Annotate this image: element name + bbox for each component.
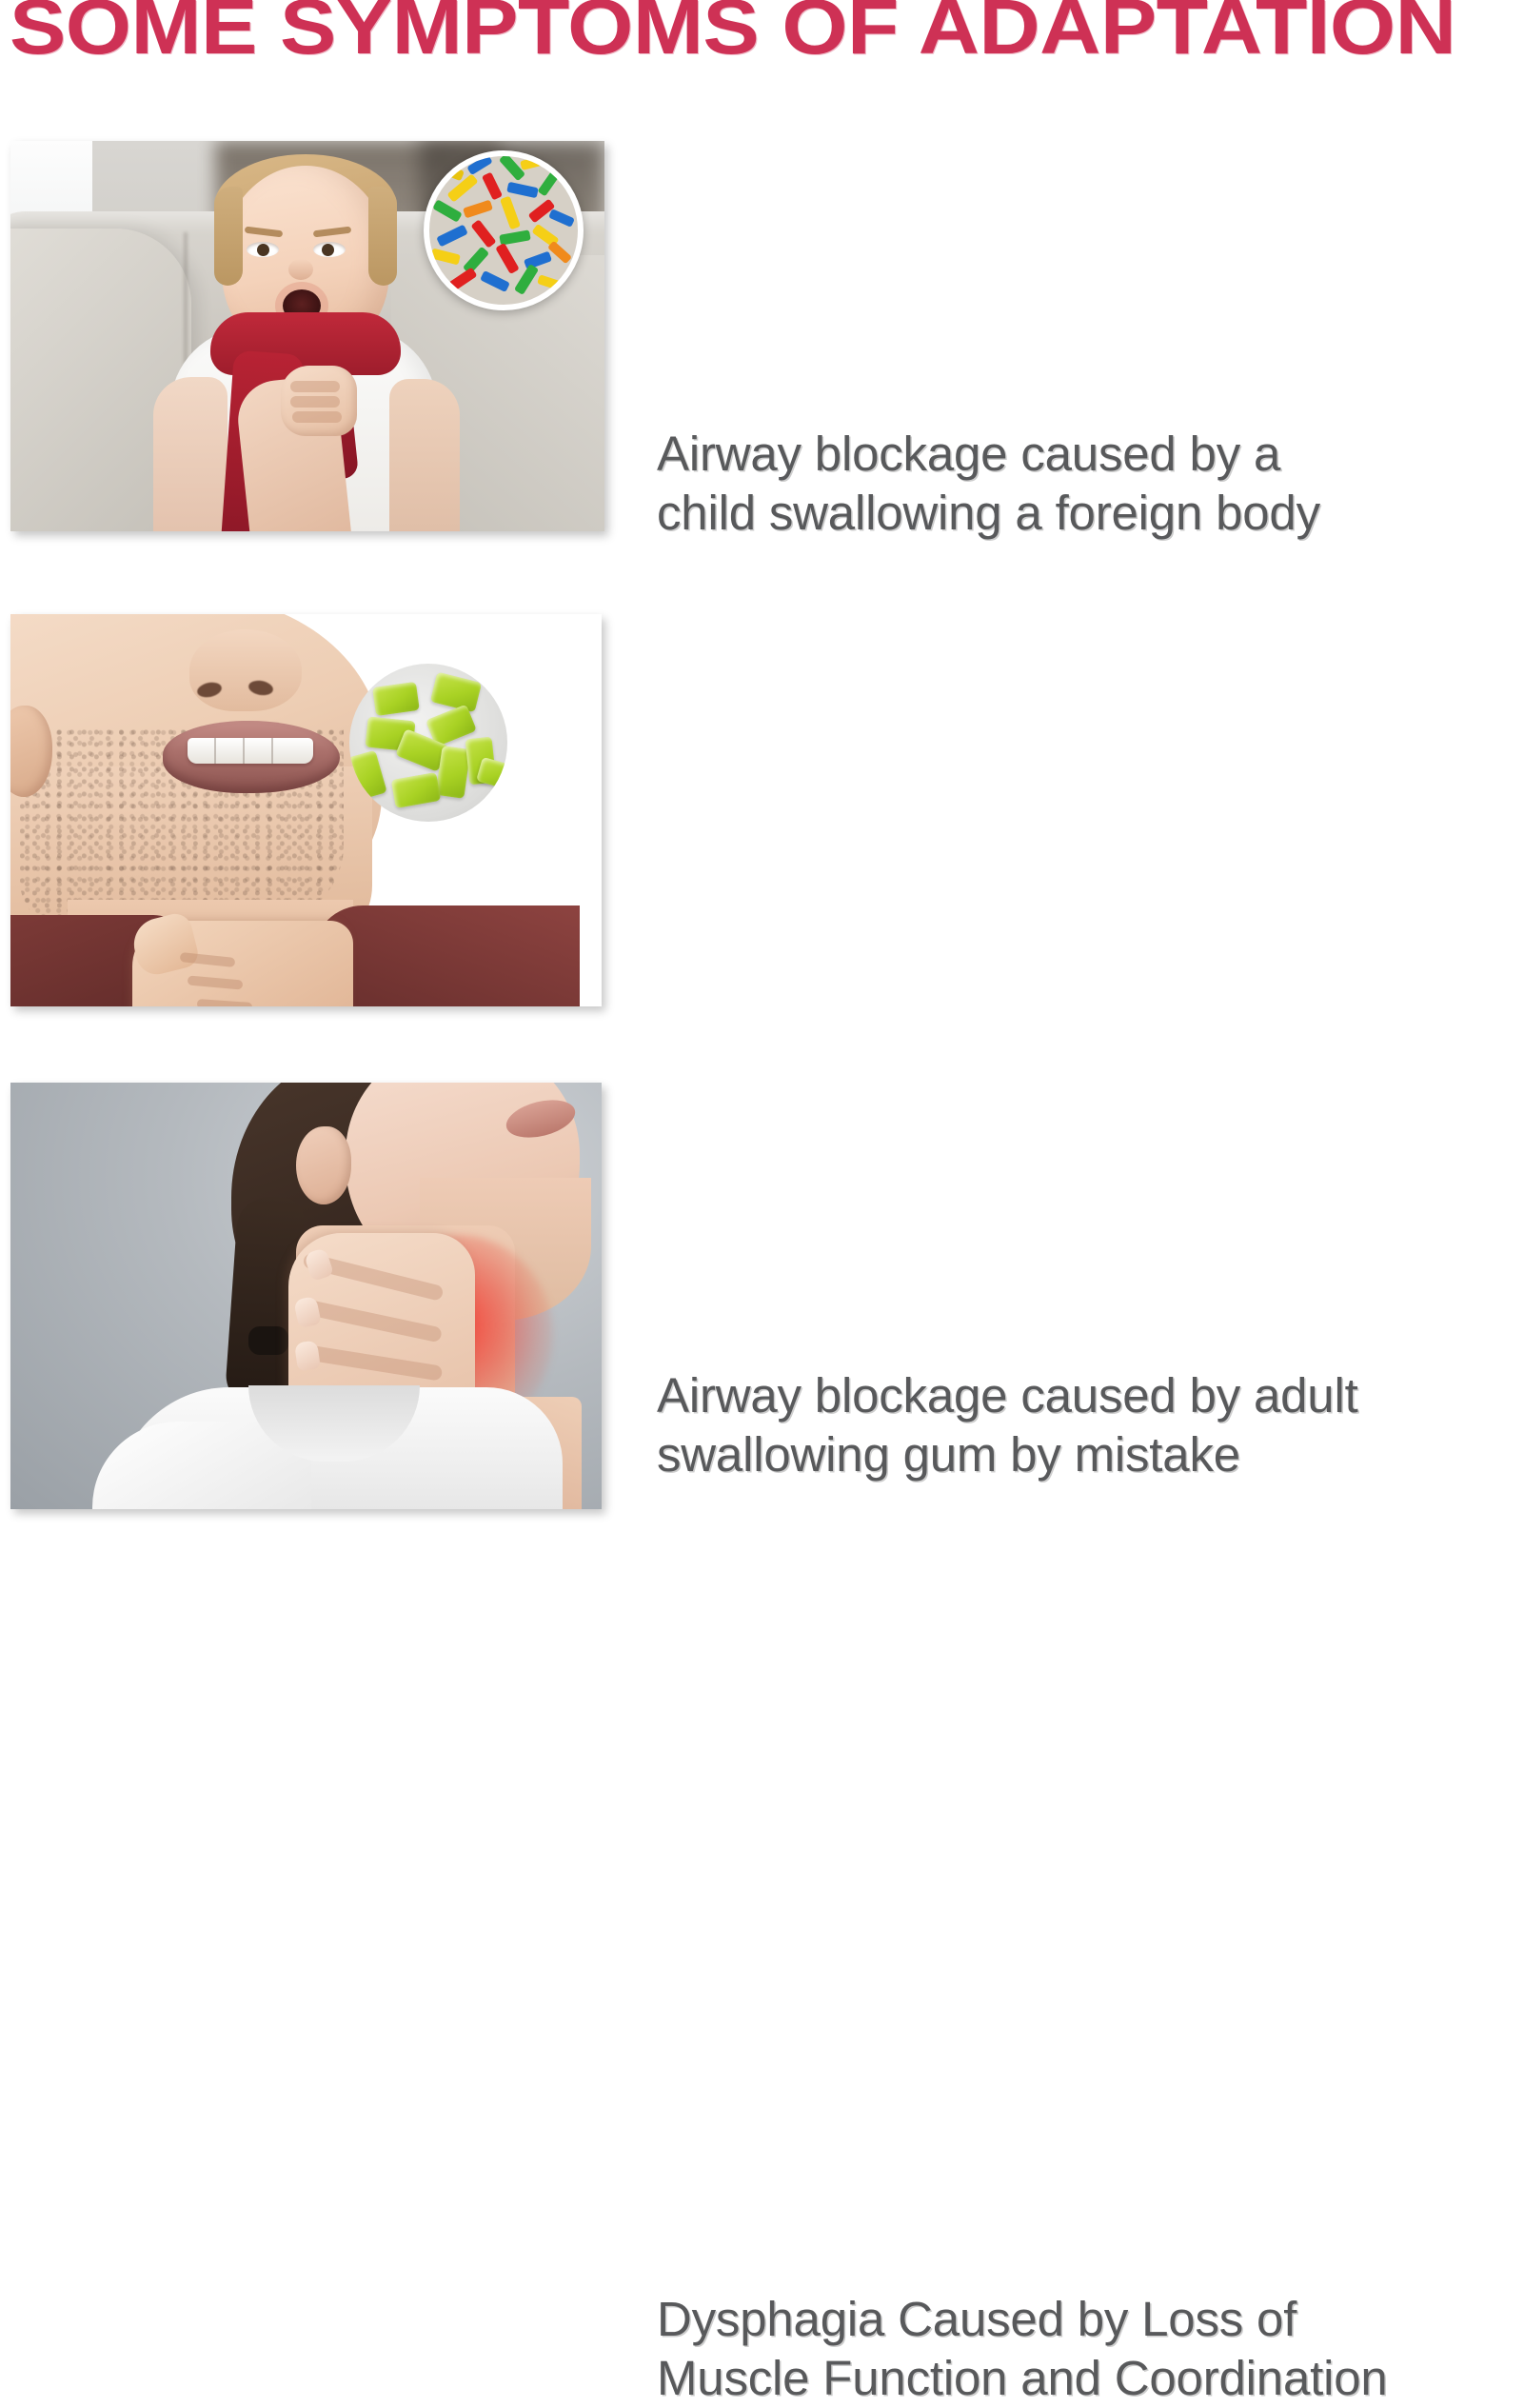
caption-child-foreign-body: Airway blockage caused by a child swallo… [657, 425, 1494, 543]
child-nose [288, 259, 313, 280]
page-title: SOME SYMPTOMS OF ADAPTATION [10, 0, 1524, 69]
child-pupil-right [322, 244, 334, 256]
child-hair-strand-left [214, 187, 243, 286]
caption-line: Dysphagia Caused by Loss of [657, 2290, 1494, 2349]
symptom-row-child-foreign-body: Airway blockage caused by a child swallo… [0, 141, 1524, 533]
chewing-gum-pieces-inset [349, 664, 507, 822]
child-hair-strand-right [368, 187, 397, 286]
woman-fingernail [294, 1340, 321, 1371]
woman-throat-scene [10, 1083, 602, 1509]
caption-dysphagia: Dysphagia Caused by Loss of Muscle Funct… [657, 2290, 1494, 2408]
man-teeth [188, 738, 313, 764]
tooth-gap [243, 738, 245, 764]
plastic-toy-pieces-inset [424, 150, 584, 310]
caption-line: child swallowing a foreign body [657, 484, 1494, 543]
child-pupil-left [257, 244, 269, 256]
man-holding-throat-photo [10, 614, 602, 1006]
title-bar: SOME SYMPTOMS OF ADAPTATION [0, 0, 1524, 69]
caption-line: Muscle Function and Coordination [657, 2349, 1494, 2408]
caption-line: Airway blockage caused by a [657, 425, 1494, 484]
symptom-row-adult-gum: Airway blockage caused by adult swallowi… [0, 614, 1524, 1006]
child-choking-photo [10, 141, 604, 531]
man-throat-scene [10, 614, 602, 1006]
man-shirt-right [313, 905, 580, 1006]
child-finger [290, 381, 340, 392]
hair-tie [248, 1326, 288, 1355]
woman-ear [296, 1126, 351, 1204]
child-arm-right [389, 379, 460, 531]
man-nose [189, 629, 302, 711]
symptom-row-dysphagia: Dysphagia Caused by Loss of Muscle Funct… [0, 1083, 1524, 1509]
child-choking-scene [10, 141, 604, 531]
child-finger [292, 411, 342, 423]
tooth-gap [271, 738, 273, 764]
child-arm-left [153, 377, 228, 531]
woman-sore-throat-photo [10, 1083, 602, 1509]
child-finger [290, 396, 340, 408]
tooth-gap [214, 738, 216, 764]
